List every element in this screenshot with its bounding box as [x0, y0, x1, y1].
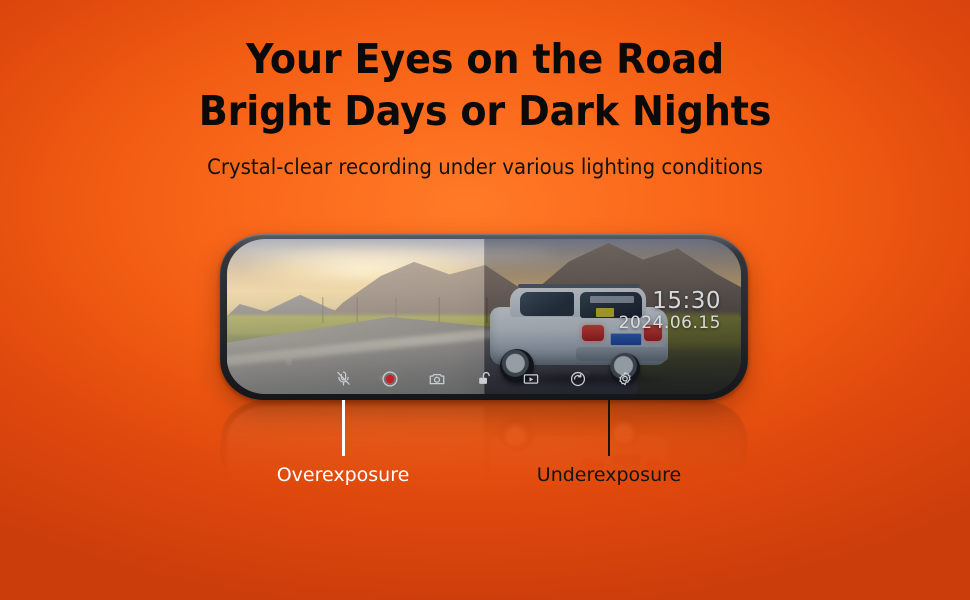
unlock-icon[interactable] — [475, 369, 494, 388]
car-license-plate — [610, 333, 642, 346]
camera-icon[interactable] — [428, 369, 447, 388]
gear-icon[interactable] — [616, 369, 635, 388]
underexposure-label: Underexposure — [537, 462, 681, 488]
car-roof-rails — [518, 284, 640, 288]
car-taillight-right — [644, 325, 662, 341]
car-rear-decal — [590, 296, 634, 303]
promo-banner: Your Eyes on the Road Bright Days or Dar… — [0, 0, 970, 600]
car-window-sticker — [596, 308, 614, 317]
page-title-line-1: Your Eyes on the Road — [34, 34, 936, 84]
dashcam-mirror-device: 15:30 2024.06.15 — [220, 234, 748, 400]
page-title-line-2: Bright Days or Dark Nights — [34, 86, 936, 136]
device-bezel: 15:30 2024.06.15 — [220, 234, 748, 400]
osd-control-bar — [227, 369, 741, 388]
play-icon[interactable] — [522, 369, 541, 388]
mic-muted-icon[interactable] — [334, 369, 353, 388]
device-screen: 15:30 2024.06.15 — [227, 239, 741, 394]
car-side-window — [520, 292, 574, 316]
record-icon[interactable] — [381, 369, 400, 388]
car-taillight-left — [582, 325, 604, 341]
page-subtitle: Crystal-clear recording under various li… — [29, 152, 941, 182]
overexposure-callout-line — [342, 400, 345, 456]
overexposure-label: Overexposure — [277, 462, 410, 488]
reflection-gravel — [227, 406, 741, 459]
underexposure-callout-line — [608, 400, 610, 456]
loop-record-icon[interactable] — [569, 369, 588, 388]
